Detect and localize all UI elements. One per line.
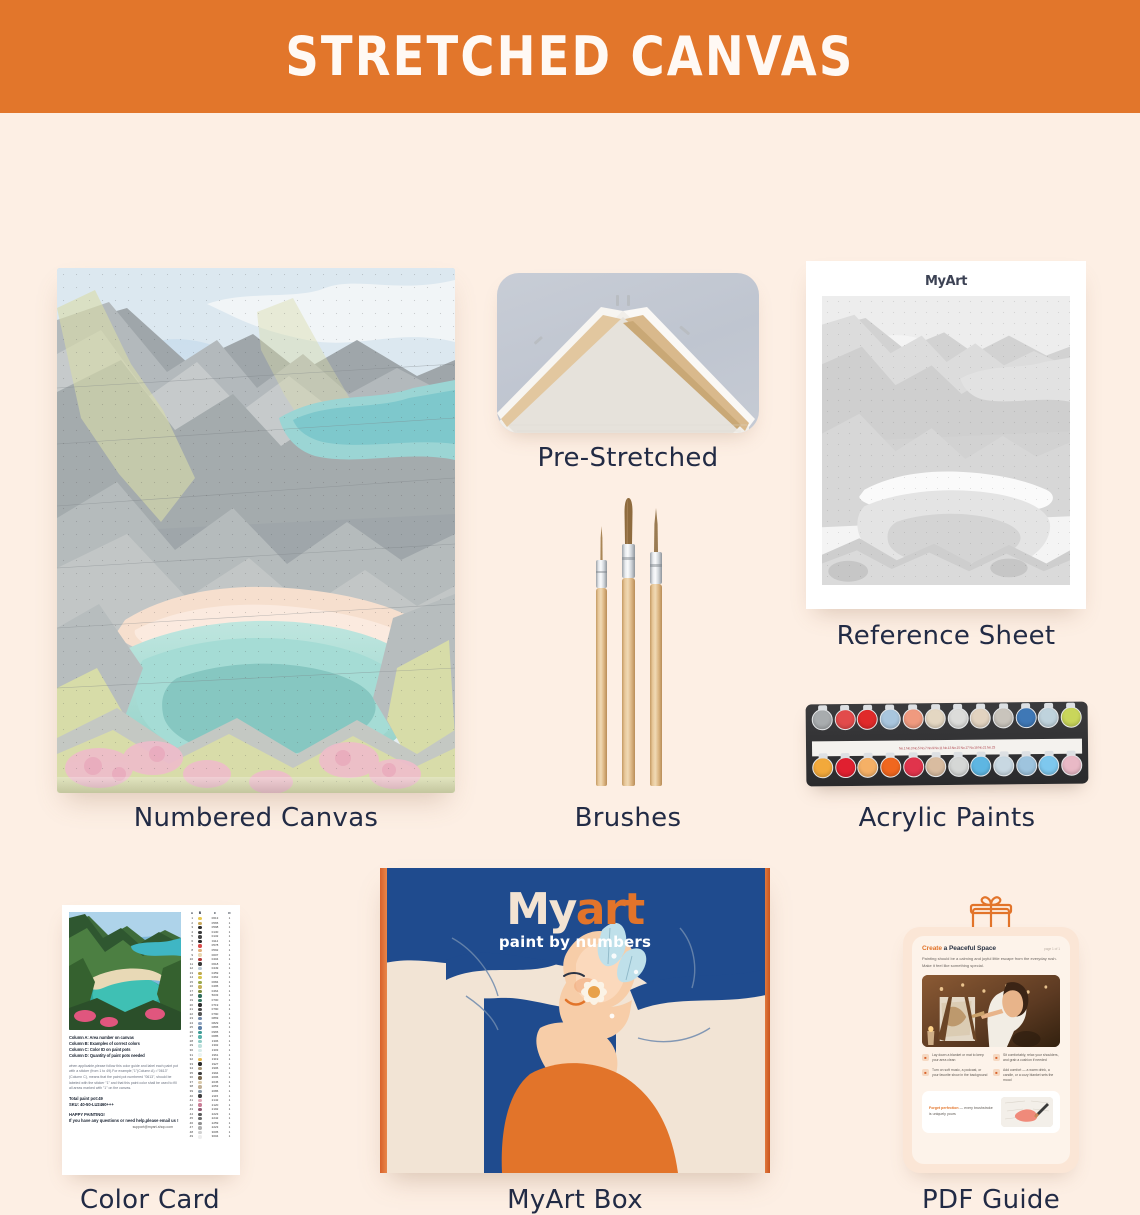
blanket-icon: ■ <box>922 1054 929 1061</box>
paint-pot <box>835 757 856 778</box>
color-card-note: when applicable,please follow this color… <box>69 1064 181 1092</box>
row-quantity: 1 <box>225 1104 234 1107</box>
row-quantity: 1 <box>225 1031 234 1034</box>
row-area-number: 32 <box>186 1058 195 1061</box>
row-area-number: 4 <box>186 931 195 934</box>
row-swatch <box>195 1126 205 1129</box>
row-quantity: 1 <box>225 954 234 957</box>
canvas-corner-photo <box>497 273 759 433</box>
box-edge-right <box>765 868 770 1173</box>
row-color-id: 0462 <box>205 976 225 979</box>
row-color-id: 2259 <box>205 1122 225 1125</box>
row-area-number: 1 <box>186 917 195 920</box>
row-color-id: 0965 <box>205 1031 225 1034</box>
box-front-face: Myart paint by numbers <box>380 868 770 1173</box>
row-color-id: 0495 <box>205 985 225 988</box>
reference-paper: MyArt <box>806 261 1086 609</box>
row-color-id: 2053 <box>205 1085 225 1088</box>
row-area-number: 21 <box>186 1008 195 1011</box>
row-quantity: 1 <box>225 1026 234 1029</box>
row-swatch <box>195 1044 205 1047</box>
row-quantity: 1 <box>225 1072 234 1075</box>
row-color-id: 2115 <box>205 1095 225 1098</box>
paint-pot <box>1038 755 1059 776</box>
row-area-number: 41 <box>186 1099 195 1102</box>
row-quantity: 1 <box>225 1049 234 1052</box>
row-quantity: 1 <box>225 1108 234 1111</box>
row-area-number: 29 <box>186 1044 195 1047</box>
row-swatch <box>195 972 205 975</box>
row-swatch <box>195 1012 205 1015</box>
pdf-tip: ■Turn on soft music, a podcast, or your … <box>922 1068 988 1084</box>
row-swatch <box>195 1081 205 1084</box>
row-color-id: 1302 <box>205 1044 225 1047</box>
row-quantity: 1 <box>225 963 234 966</box>
row-area-number: 28 <box>186 1040 195 1043</box>
row-area-number: 5 <box>186 935 195 938</box>
row-quantity: 1 <box>225 1008 234 1011</box>
row-quantity: 1 <box>225 1040 234 1043</box>
row-color-id: 0895 <box>205 1026 225 1029</box>
paint-pot <box>970 756 991 777</box>
row-swatch <box>195 1085 205 1088</box>
paint-pot <box>880 708 901 729</box>
row-color-id: 0592 <box>205 949 225 952</box>
brush-flat <box>622 498 635 786</box>
box-logo-my: My <box>506 884 575 935</box>
row-quantity: 1 <box>225 1126 234 1129</box>
row-quantity: 1 <box>225 940 234 943</box>
row-area-number: 36 <box>186 1076 195 1079</box>
brush-tip <box>650 508 662 552</box>
row-swatch <box>195 1117 205 1120</box>
row-area-number: 15 <box>186 981 195 984</box>
myart-box-image: Myart paint by numbers <box>380 868 770 1173</box>
row-swatch <box>195 1062 205 1065</box>
page-header: STRETCHED CANVAS <box>0 0 1140 113</box>
color-index-row: 4930041 <box>186 1135 234 1140</box>
row-color-id: 0719 <box>205 1004 225 1007</box>
row-quantity: 1 <box>225 922 234 925</box>
row-swatch <box>195 922 205 925</box>
row-quantity: 1 <box>225 976 234 979</box>
row-area-number: 7 <box>186 944 195 947</box>
color-card-legend: Column A: Area number on canvas Column B… <box>69 1035 181 1060</box>
row-area-number: 24 <box>186 1022 195 1025</box>
row-area-number: 22 <box>186 1013 195 1016</box>
brush-handle <box>596 588 607 786</box>
row-area-number: 19 <box>186 999 195 1002</box>
row-color-id: 0404 <box>205 958 225 961</box>
chair-icon: ■ <box>993 1054 1000 1061</box>
row-color-id: 0578 <box>205 944 225 947</box>
row-area-number: 2 <box>186 922 195 925</box>
brushes-image <box>560 498 700 786</box>
brush-thin-round <box>596 526 607 786</box>
paint-pot <box>902 708 923 729</box>
row-color-id: 1994 <box>205 1072 225 1075</box>
pre-stretched-image <box>497 273 759 433</box>
color-card-artwork <box>69 912 181 1030</box>
row-area-number: 27 <box>186 1035 195 1038</box>
caption-brushes: Brushes <box>497 803 759 833</box>
brush-handle <box>622 578 635 786</box>
brush-tip <box>622 498 635 544</box>
row-area-number: 31 <box>186 1054 195 1057</box>
paint-pot <box>903 756 924 777</box>
pdf-tip-text: Sit comfortably, relax your shoulders, a… <box>1003 1053 1059 1064</box>
support-email: support@myart-shop.com <box>69 1125 181 1129</box>
row-area-number: 37 <box>186 1081 195 1084</box>
paint-pot <box>993 755 1014 776</box>
reference-logo: MyArt <box>822 274 1070 289</box>
row-quantity: 1 <box>225 981 234 984</box>
row-swatch <box>195 976 205 979</box>
row-swatch <box>195 931 205 934</box>
numbered-canvas-image <box>57 268 455 793</box>
row-color-id: 0790 <box>205 1008 225 1011</box>
row-quantity: 1 <box>225 949 234 952</box>
row-area-number: 20 <box>186 1004 195 1007</box>
row-swatch <box>195 1076 205 1079</box>
row-color-id: 2006 <box>205 1076 225 1079</box>
row-quantity: 1 <box>225 985 234 988</box>
row-color-id: 0700 <box>205 999 225 1002</box>
row-swatch <box>195 999 205 1002</box>
page-title: STRETCHED CANVAS <box>285 25 854 88</box>
pdf-footer-text: Forget perfection — every brushstroke is… <box>929 1106 995 1118</box>
pdf-tip-text: Turn on soft music, a podcast, or your f… <box>932 1068 988 1084</box>
row-area-number: 43 <box>186 1108 195 1111</box>
row-quantity: 1 <box>225 931 234 934</box>
row-area-number: 13 <box>186 972 195 975</box>
row-quantity: 1 <box>225 1135 234 1138</box>
row-quantity: 1 <box>225 1013 234 1016</box>
row-swatch <box>195 917 205 920</box>
row-swatch <box>195 940 205 943</box>
color-index-header: A B C D <box>186 912 234 915</box>
caption-numbered-canvas: Numbered Canvas <box>57 803 455 833</box>
row-area-number: 49 <box>186 1135 195 1138</box>
col-a-header: A <box>186 912 195 915</box>
pdf-tip: ■Add comfort — a warm drink, a candle, o… <box>993 1068 1059 1084</box>
row-swatch <box>195 1035 205 1038</box>
row-quantity: 1 <box>225 967 234 970</box>
row-area-number: 45 <box>186 1117 195 1120</box>
row-color-id: 0684 <box>205 981 225 984</box>
row-swatch <box>195 1113 205 1116</box>
row-color-id: 3004 <box>205 1135 225 1138</box>
paint-pot <box>1016 755 1037 776</box>
row-quantity: 1 <box>225 1044 234 1047</box>
reference-number-texture <box>822 296 1070 585</box>
row-swatch <box>195 935 205 938</box>
paint-pot <box>1015 707 1036 728</box>
row-quantity: 1 <box>225 999 234 1002</box>
row-swatch <box>195 1049 205 1052</box>
row-area-number: 42 <box>186 1104 195 1107</box>
canvas-stretched-edge <box>57 777 455 793</box>
row-swatch <box>195 1108 205 1111</box>
row-swatch <box>195 1022 205 1025</box>
row-area-number: 48 <box>186 1131 195 1134</box>
row-swatch <box>195 1103 205 1106</box>
paint-pot <box>1060 707 1081 728</box>
pdf-tip-text: Lay down a blanket or mat to keep your a… <box>932 1053 988 1064</box>
pdf-footer-image <box>1001 1097 1053 1127</box>
row-color-id: 2223 <box>205 1113 225 1116</box>
row-color-id: 1906 <box>205 1067 225 1070</box>
row-area-number: 23 <box>186 1017 195 1020</box>
row-color-id: 0613 <box>205 917 225 920</box>
paint-row-bottom <box>812 755 1082 789</box>
legend-line-d: Column D: Quantity of paint pots needed <box>69 1053 181 1059</box>
pdf-tip: ■Lay down a blanket or mat to keep your … <box>922 1053 988 1064</box>
box-tagline: paint by numbers <box>380 933 770 951</box>
row-color-id: 0685 <box>205 1035 225 1038</box>
row-area-number: 6 <box>186 940 195 943</box>
row-area-number: 34 <box>186 1067 195 1070</box>
row-swatch <box>195 1122 205 1125</box>
row-quantity: 1 <box>225 1090 234 1093</box>
row-quantity: 1 <box>225 935 234 938</box>
row-quantity: 1 <box>225 1058 234 1061</box>
paint-pot <box>880 756 901 777</box>
brush-tip <box>596 526 607 560</box>
row-color-id: 0459 <box>205 972 225 975</box>
brush-handle <box>650 584 662 786</box>
paint-pot <box>857 757 878 778</box>
row-area-number: 44 <box>186 1113 195 1116</box>
row-swatch <box>195 1040 205 1043</box>
caption-myart-box: MyArt Box <box>380 1185 770 1215</box>
color-card-image: Column A: Area number on canvas Column B… <box>62 905 240 1175</box>
row-area-number: 10 <box>186 958 195 961</box>
candle-icon: ■ <box>993 1069 1000 1076</box>
row-color-id: 0449 <box>205 967 225 970</box>
row-swatch <box>195 1090 205 1093</box>
row-quantity: 1 <box>225 1095 234 1098</box>
row-color-id: 0007 <box>205 954 225 957</box>
row-quantity: 1 <box>225 1113 234 1116</box>
canvas-corner-illustration <box>497 273 759 433</box>
row-swatch <box>195 985 205 988</box>
row-area-number: 47 <box>186 1126 195 1129</box>
paint-pot <box>993 707 1014 728</box>
brush-ferrule <box>650 552 662 584</box>
canvas-number-texture <box>57 268 455 793</box>
row-swatch <box>195 1094 205 1097</box>
reference-sheet-image: MyArt <box>806 261 1086 609</box>
row-swatch <box>195 994 205 997</box>
row-color-id: 1961 <box>205 1054 225 1057</box>
row-color-id: 0565 <box>205 922 225 925</box>
row-area-number: 16 <box>186 985 195 988</box>
row-quantity: 1 <box>225 994 234 997</box>
row-quantity: 1 <box>225 1035 234 1038</box>
row-quantity: 1 <box>225 917 234 920</box>
col-c-header: C <box>205 912 225 915</box>
row-quantity: 1 <box>225 1099 234 1102</box>
row-color-id: 0790 <box>205 1013 225 1016</box>
pdf-hero-photo <box>922 975 1060 1047</box>
row-color-id: 0114 <box>205 940 225 943</box>
row-swatch <box>195 944 205 947</box>
brush-ferrule <box>622 544 635 578</box>
col-b-header: B <box>195 912 205 915</box>
row-swatch <box>195 1058 205 1061</box>
row-area-number: 38 <box>186 1085 195 1088</box>
row-swatch <box>195 990 205 993</box>
col-d-header: D <box>225 912 234 915</box>
row-color-id: 2242 <box>205 1117 225 1120</box>
pdf-page-label: page 1 of 1 <box>1044 947 1060 951</box>
row-color-id: 3005 <box>205 1131 225 1134</box>
row-swatch <box>195 958 205 961</box>
row-quantity: 1 <box>225 958 234 961</box>
caption-reference-sheet: Reference Sheet <box>806 621 1086 651</box>
row-color-id: 5033 <box>205 994 225 997</box>
row-area-number: 12 <box>186 967 195 970</box>
box-logo: Myart <box>380 884 770 935</box>
row-color-id: 2142 <box>205 1099 225 1102</box>
row-area-number: 11 <box>186 963 195 966</box>
row-swatch <box>195 962 205 965</box>
paint-pot <box>834 709 855 730</box>
row-quantity: 1 <box>225 1054 234 1057</box>
row-area-number: 17 <box>186 990 195 993</box>
row-color-id: 0464 <box>205 990 225 993</box>
paint-pot <box>857 709 878 730</box>
caption-acrylic-paints: Acrylic Paints <box>806 803 1088 833</box>
row-color-id: 2045 <box>205 1081 225 1084</box>
sku-label: SKU: 40-50-LU2460+++ <box>69 1102 181 1109</box>
row-quantity: 1 <box>225 944 234 947</box>
row-area-number: 35 <box>186 1072 195 1075</box>
row-area-number: 39 <box>186 1090 195 1093</box>
row-color-id: 0132 <box>205 935 225 938</box>
row-area-number: 26 <box>186 1031 195 1034</box>
row-area-number: 9 <box>186 954 195 957</box>
paint-pot <box>1061 755 1082 776</box>
pdf-guide-card: Create a Peaceful Space page 1 of 1 Pain… <box>903 927 1079 1173</box>
brush-medium-round <box>650 508 662 786</box>
paint-pot <box>925 708 946 729</box>
row-swatch <box>195 1099 205 1102</box>
row-color-id: 0598 <box>205 926 225 929</box>
row-color-id: 2223 <box>205 1126 225 1129</box>
row-area-number: 40 <box>186 1095 195 1098</box>
paint-pot <box>947 708 968 729</box>
paint-label-strip-top: No.1 No.3 No.5 No.7 No.9 No.11 No.13 No.… <box>812 739 1082 757</box>
row-quantity: 1 <box>225 1131 234 1134</box>
row-swatch <box>195 967 205 970</box>
row-color-id: 1303 <box>205 1049 225 1052</box>
row-area-number: 18 <box>186 994 195 997</box>
brush-ferrule <box>596 560 607 588</box>
box-edge-left <box>380 868 387 1173</box>
row-color-id: 1319 <box>205 1058 225 1061</box>
row-area-number: 14 <box>186 976 195 979</box>
row-quantity: 1 <box>225 926 234 929</box>
row-quantity: 1 <box>225 1017 234 1020</box>
row-quantity: 1 <box>225 990 234 993</box>
row-color-id: 2120 <box>205 1104 225 1107</box>
paint-row-top <box>812 707 1082 741</box>
pdf-heading: Create a Peaceful Space <box>922 945 996 952</box>
color-index-rows: 1061312056513059814013015013216011417057… <box>186 916 234 1139</box>
row-area-number: 46 <box>186 1122 195 1125</box>
pdf-guide-image: Create a Peaceful Space page 1 of 1 Pain… <box>903 895 1079 1173</box>
box-logo-art: art <box>576 884 644 935</box>
pdf-tip: ■Sit comfortably, relax your shoulders, … <box>993 1053 1059 1064</box>
row-color-id: 2192 <box>205 1108 225 1111</box>
row-color-id: 1306 <box>205 1040 225 1043</box>
row-quantity: 1 <box>225 1081 234 1084</box>
music-icon: ■ <box>922 1069 929 1076</box>
row-color-id: 0829 <box>205 1022 225 1025</box>
row-swatch <box>195 1135 205 1138</box>
row-swatch <box>195 949 205 952</box>
pdf-footer-accent: Forget perfection <box>929 1106 959 1110</box>
caption-color-card: Color Card <box>30 1185 270 1215</box>
row-swatch <box>195 1003 205 1006</box>
row-color-id: 2086 <box>205 1090 225 1093</box>
row-quantity: 1 <box>225 1063 234 1066</box>
paint-pot <box>812 757 833 778</box>
pdf-tip-text: Add comfort — a warm drink, a candle, or… <box>1003 1068 1059 1084</box>
row-quantity: 1 <box>225 1117 234 1120</box>
product-contents-board: Numbered Canvas <box>0 113 1140 1140</box>
row-area-number: 8 <box>186 949 195 952</box>
color-card-photo <box>69 912 181 1030</box>
color-card-paper: Column A: Area number on canvas Column B… <box>62 905 240 1175</box>
paint-pot <box>970 708 991 729</box>
row-swatch <box>195 1131 205 1134</box>
row-area-number: 3 <box>186 926 195 929</box>
pdf-guide-page: Create a Peaceful Space page 1 of 1 Pain… <box>912 936 1070 1164</box>
caption-pre-stretched: Pre-Stretched <box>497 443 759 473</box>
pdf-hero-illustration <box>922 975 1060 1047</box>
pdf-footer-tip: Forget perfection — every brushstroke is… <box>922 1091 1060 1133</box>
row-swatch <box>195 1008 205 1011</box>
row-quantity: 1 <box>225 1022 234 1025</box>
row-swatch <box>195 953 205 956</box>
pdf-tips-list: ■Lay down a blanket or mat to keep your … <box>922 1053 1060 1083</box>
row-swatch <box>195 1017 205 1020</box>
pdf-heading-rest: a Peaceful Space <box>942 945 996 952</box>
row-swatch <box>195 1026 205 1029</box>
row-quantity: 1 <box>225 1122 234 1125</box>
row-color-id: 0618 <box>205 963 225 966</box>
pdf-heading-accent: Create <box>922 945 942 952</box>
paint-pot <box>925 756 946 777</box>
row-swatch <box>195 1053 205 1056</box>
row-area-number: 33 <box>186 1063 195 1066</box>
row-swatch <box>195 1067 205 1070</box>
row-swatch <box>195 1031 205 1034</box>
row-swatch <box>195 1072 205 1075</box>
reference-grayscale-artwork <box>822 296 1070 585</box>
row-swatch <box>195 981 205 984</box>
row-quantity: 1 <box>225 972 234 975</box>
row-quantity: 1 <box>225 1067 234 1070</box>
row-quantity: 1 <box>225 1085 234 1088</box>
row-quantity: 1 <box>225 1076 234 1079</box>
row-color-id: 0869 <box>205 1017 225 1020</box>
color-index-table: A B C D 10613120565130598140130150132160… <box>186 912 234 1170</box>
pdf-intro: Painting should be a calming and joyful … <box>922 956 1060 969</box>
